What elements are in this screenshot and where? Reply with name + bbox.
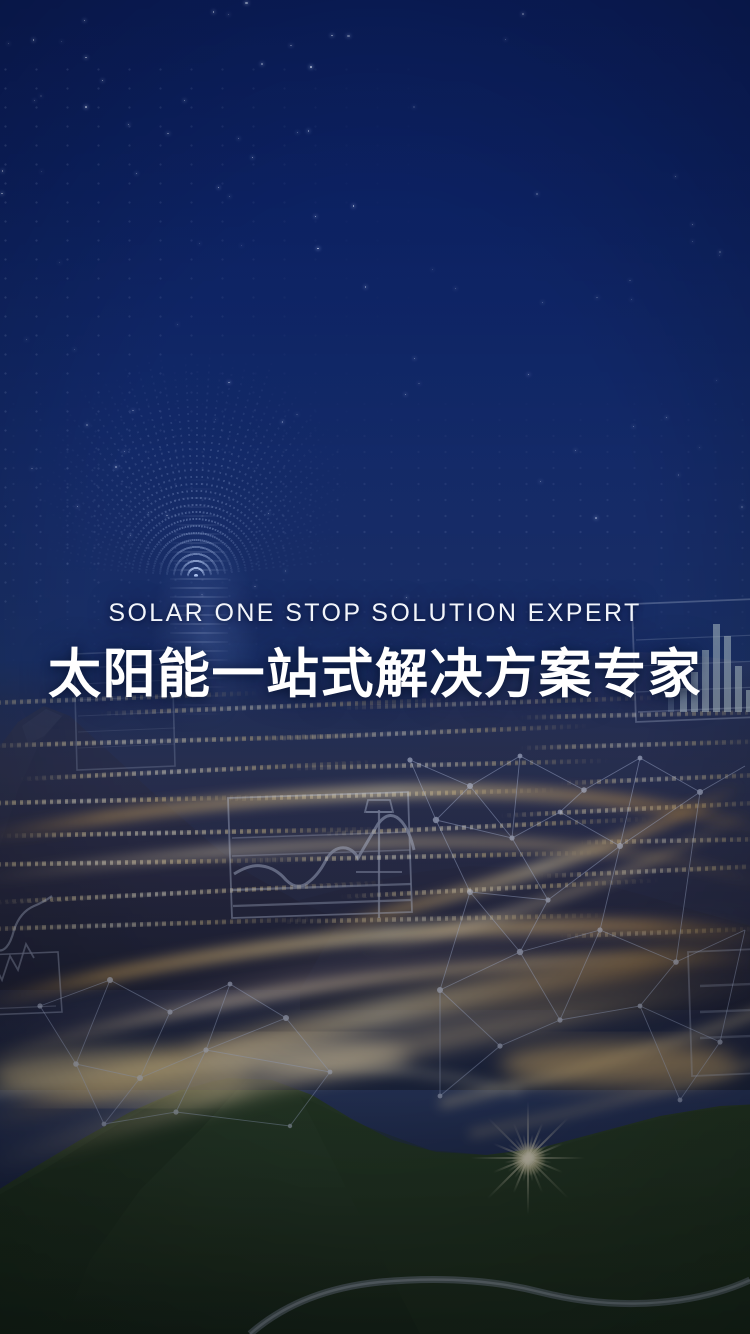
hero-headline: 太阳能一站式解决方案专家 (0, 644, 750, 706)
light-flare-icon (528, 1158, 530, 1160)
hero-copy: SOLAR ONE STOP SOLUTION EXPERT 太阳能一站式解决方… (0, 596, 750, 706)
wave-chart-card (228, 792, 414, 918)
hero-eyebrow: SOLAR ONE STOP SOLUTION EXPERT (0, 596, 750, 630)
right-panel-card (688, 948, 750, 1076)
hero-banner: SOLAR ONE STOP SOLUTION EXPERT 太阳能一站式解决方… (0, 0, 750, 1334)
line-chart-card (0, 896, 62, 1016)
